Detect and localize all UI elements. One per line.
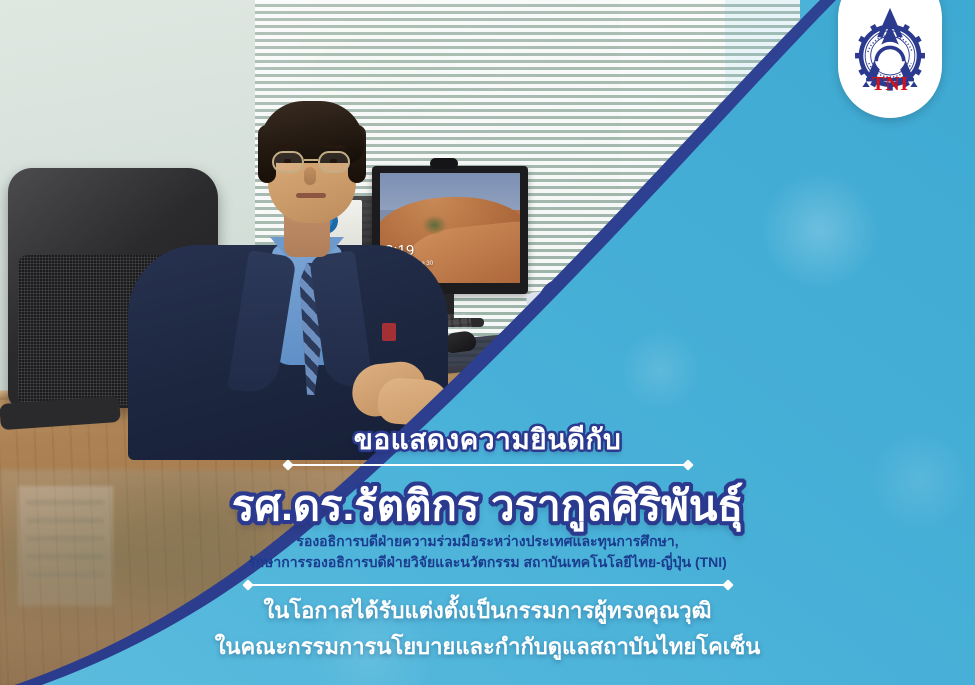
- occasion-line-1: ในโอกาสได้รับแต่งตั้งเป็นกรรมการผู้ทรงคุ…: [0, 594, 975, 627]
- tni-logo-badge: TNI: [838, 0, 942, 118]
- honoree-name: รศ.ดร.รัตติกร วรากูลศิริพันธุ์: [0, 473, 975, 539]
- honoree-role-line-1: รองอธิการบดีฝ่ายความร่วมมือระหว่างประเทศ…: [0, 531, 975, 553]
- divider-top: [288, 464, 688, 466]
- divider-bottom: [248, 584, 728, 586]
- tni-logo-initials: TNI: [838, 73, 942, 96]
- banner-text-block: ขอแสดงความยินดีกับ รศ.ดร.รัตติกร วรากูลศ…: [0, 0, 975, 685]
- occasion-line-2: ในคณะกรรมการนโยบายและกำกับดูแลสถาบันไทยโ…: [0, 630, 975, 663]
- congratulations-banner: 2:19 Tuesday, June 30 LG 11 Alcott: [0, 0, 975, 685]
- congratulations-headline: ขอแสดงความยินดีกับ: [0, 418, 975, 462]
- honoree-role-line-2: รักษาการรองอธิการบดีฝ่ายวิจัยและนวัตกรรม…: [0, 552, 975, 574]
